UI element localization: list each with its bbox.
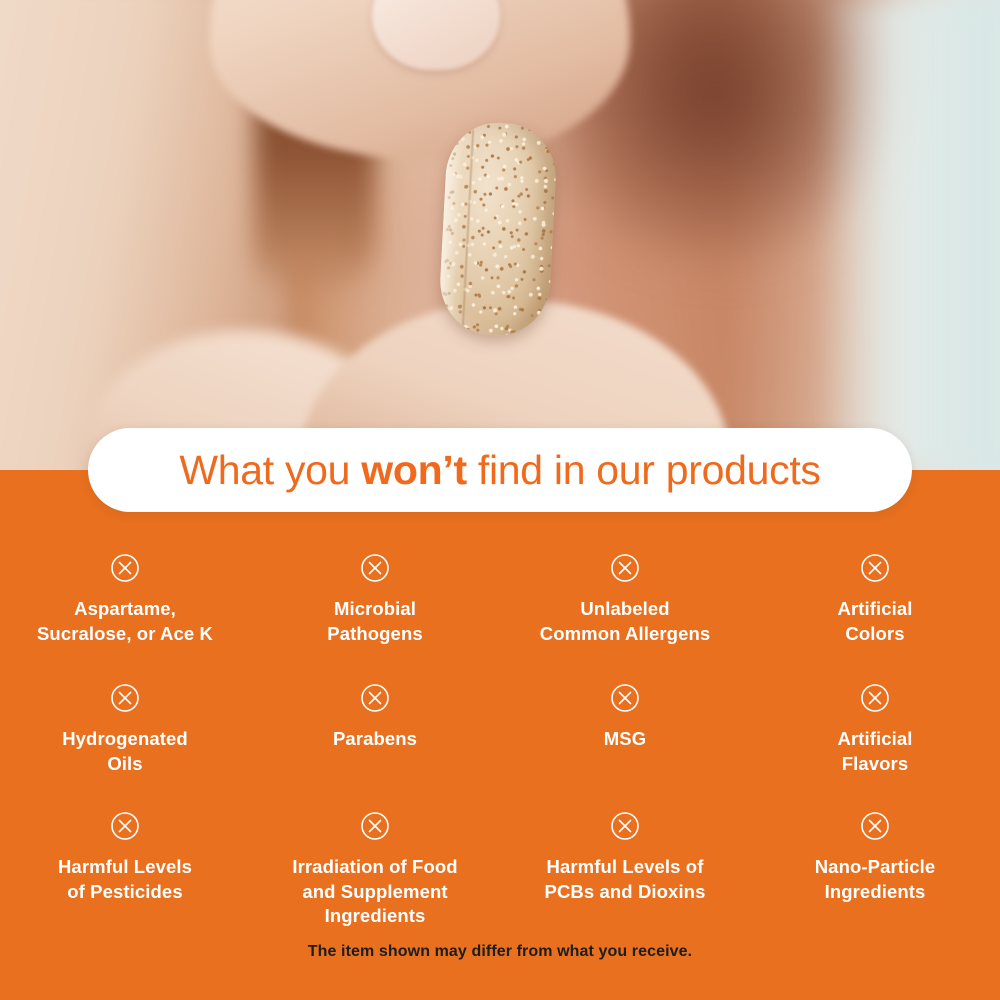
supplement-tablet	[438, 120, 559, 337]
grid-item-label: Irradiation of Food and Supplement Ingre…	[250, 855, 500, 929]
grid-item-label: Parabens	[250, 727, 500, 752]
grid-item: Artificial Flavors	[750, 670, 1000, 798]
circle-x-icon	[360, 683, 390, 713]
grid-item-label: Artificial Colors	[750, 597, 1000, 646]
photo-right-wash	[820, 0, 1000, 472]
grid-item-label: MSG	[500, 727, 750, 752]
circle-x-icon	[860, 683, 890, 713]
product-claims-infographic: What you won’t find in our products Aspa…	[0, 0, 1000, 1000]
circle-x-icon	[610, 683, 640, 713]
grid-item: Parabens	[250, 670, 500, 798]
circle-x-icon	[610, 811, 640, 841]
grid-item: Nano-Particle Ingredients	[750, 798, 1000, 931]
circle-x-icon	[360, 811, 390, 841]
circle-x-icon	[610, 553, 640, 583]
excluded-ingredients-grid: Aspartame, Sucralose, or Ace K Microbial…	[0, 540, 1000, 931]
circle-x-icon	[110, 811, 140, 841]
circle-x-icon	[110, 683, 140, 713]
title-pill: What you won’t find in our products	[88, 428, 912, 512]
grid-item: Harmful Levels of PCBs and Dioxins	[500, 798, 750, 931]
grid-item: Harmful Levels of Pesticides	[0, 798, 250, 931]
grid-item: MSG	[500, 670, 750, 798]
grid-item-label: Unlabeled Common Allergens	[500, 597, 750, 646]
title-part-2: find in our products	[467, 447, 821, 493]
circle-x-icon	[860, 553, 890, 583]
grid-item: Microbial Pathogens	[250, 540, 500, 670]
grid-item: Hydrogenated Oils	[0, 670, 250, 798]
product-photo	[0, 0, 1000, 472]
grid-item-label: Artificial Flavors	[750, 727, 1000, 776]
grid-item-label: Microbial Pathogens	[250, 597, 500, 646]
grid-item-label: Hydrogenated Oils	[0, 727, 250, 776]
page-title: What you won’t find in our products	[179, 447, 820, 494]
grid-item: Artificial Colors	[750, 540, 1000, 670]
title-part-1: What you	[179, 447, 361, 493]
grid-item-label: Harmful Levels of PCBs and Dioxins	[500, 855, 750, 904]
grid-item: Irradiation of Food and Supplement Ingre…	[250, 798, 500, 931]
circle-x-icon	[110, 553, 140, 583]
circle-x-icon	[360, 553, 390, 583]
grid-item-label: Aspartame, Sucralose, or Ace K	[0, 597, 250, 646]
grid-item-label: Harmful Levels of Pesticides	[0, 855, 250, 904]
title-emphasis: won’t	[361, 447, 467, 493]
grid-item: Unlabeled Common Allergens	[500, 540, 750, 670]
circle-x-icon	[860, 811, 890, 841]
grid-item: Aspartame, Sucralose, or Ace K	[0, 540, 250, 670]
disclaimer-note: The item shown may differ from what you …	[0, 943, 1000, 961]
grid-item-label: Nano-Particle Ingredients	[750, 855, 1000, 904]
